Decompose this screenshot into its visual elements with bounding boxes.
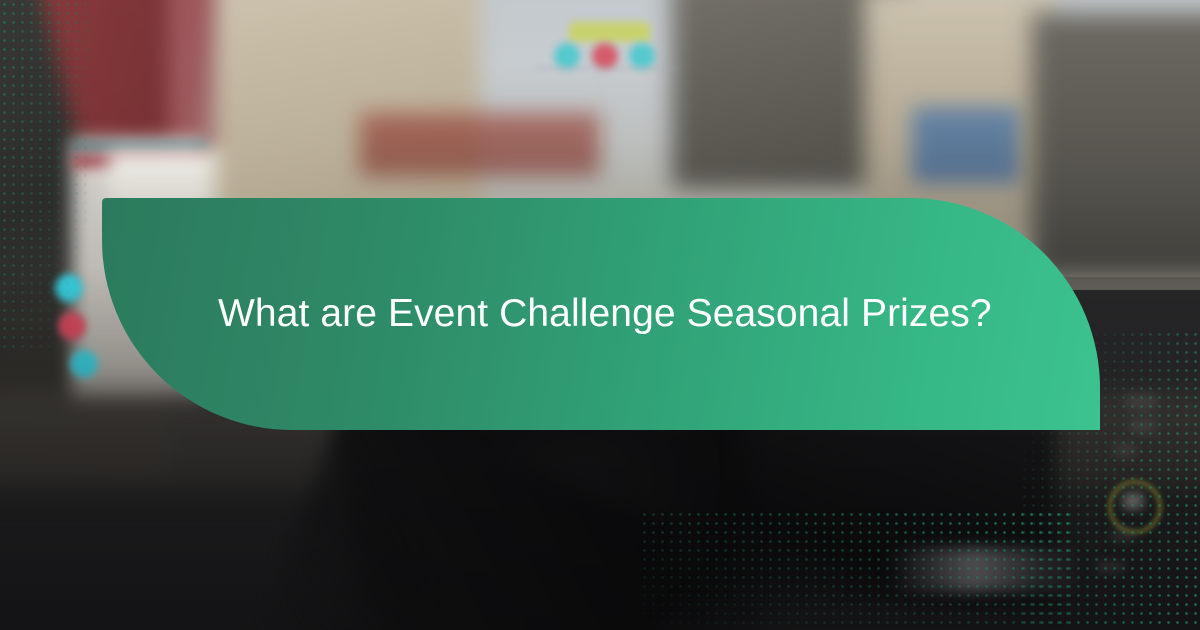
hud-chip-4 xyxy=(1111,529,1135,541)
image-canvas: What are Event Challenge Seasonal Prizes… xyxy=(0,0,1200,630)
hud-chip-5 xyxy=(1097,561,1123,573)
hud-team-marker-2 xyxy=(58,312,86,340)
hud-chip-3 xyxy=(1114,444,1136,456)
title-banner: What are Event Challenge Seasonal Prizes… xyxy=(102,198,1100,430)
background-blue-sign xyxy=(912,107,1020,183)
hud-marker-cyan-right xyxy=(629,43,655,69)
page-title: What are Event Challenge Seasonal Prizes… xyxy=(218,291,992,338)
hud-chip-2 xyxy=(1130,419,1156,433)
background-red-roof xyxy=(360,113,600,176)
hud-horizon-line xyxy=(534,67,678,69)
hud-objective-bar xyxy=(569,22,651,42)
hud-team-marker-3 xyxy=(70,350,98,378)
hud-center-line xyxy=(600,69,602,145)
hud-reticle-core xyxy=(1123,493,1143,509)
background-building-right xyxy=(1032,13,1200,278)
hud-marker-pink-center xyxy=(592,43,618,69)
hud-chip-1 xyxy=(1126,394,1156,410)
background-weapon-highlight xyxy=(888,548,1080,592)
